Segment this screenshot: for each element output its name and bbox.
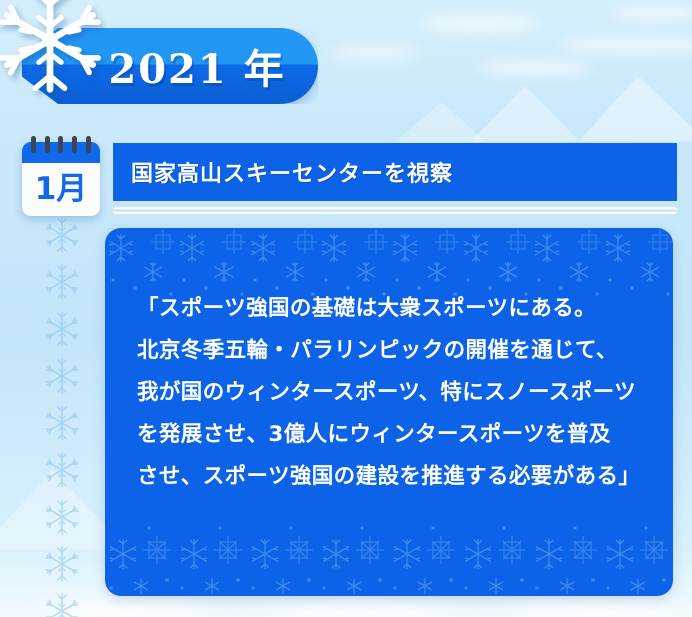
snowflake-icon (42, 450, 82, 490)
cloud-shape (330, 46, 420, 60)
quote-line: 我が国のウィンタースポーツ、特にスノースポーツ (137, 372, 655, 414)
calendar-ring (31, 136, 36, 153)
section-title-bar: 国家高山スキーセンターを視察 (113, 143, 677, 201)
quote-text: 「スポーツ強国の基礎は大衆スポーツにある。 北京冬季五輪・パラリンピックの開催を… (137, 288, 655, 498)
snowflake-pattern-bottom (105, 520, 673, 596)
snowflake-icon (42, 544, 82, 584)
cloud-shape (610, 6, 692, 21)
cloud-shape (420, 14, 540, 34)
snowflake-icon (42, 356, 82, 396)
snowflake-icon (0, 0, 106, 96)
snowflake-icon (42, 403, 82, 443)
calendar-ring (72, 136, 77, 153)
calendar-ring (86, 136, 91, 153)
cloud-shape (480, 60, 590, 76)
quote-line: を発展させ、3億人にウィンタースポーツを普及 (137, 414, 655, 456)
snowflake-icon (42, 215, 82, 255)
calendar-icon: 1月 (22, 136, 100, 216)
snowflake-icon (42, 497, 82, 537)
mountain-shape (470, 86, 580, 142)
quote-line: 「スポーツ強国の基礎は大衆スポーツにある。 (137, 288, 655, 330)
snowflake-icon (42, 591, 82, 617)
calendar-rings (22, 136, 100, 156)
title-divider (113, 207, 677, 214)
cloud-shape (560, 36, 692, 54)
quote-card: 「スポーツ強国の基礎は大衆スポーツにある。 北京冬季五輪・パラリンピックの開催を… (105, 228, 673, 596)
snowflake-column (40, 215, 84, 617)
calendar-ring (58, 136, 63, 153)
page-title: 国家高山スキーセンターを視察 (113, 156, 453, 188)
mountain-shape (578, 76, 692, 142)
quote-line: 北京冬季五輪・パラリンピックの開催を通じて、 (137, 330, 655, 372)
snowflake-icon (42, 262, 82, 302)
winter-timeline-card: 2021 年 (0, 0, 692, 617)
calendar-month-label: 1月 (22, 163, 100, 216)
mountain-shape (392, 102, 488, 144)
snowflake-icon (42, 309, 82, 349)
quote-line: させ、スポーツ強国の建設を推進する必要がある」 (137, 456, 655, 498)
calendar-ring (45, 136, 50, 153)
